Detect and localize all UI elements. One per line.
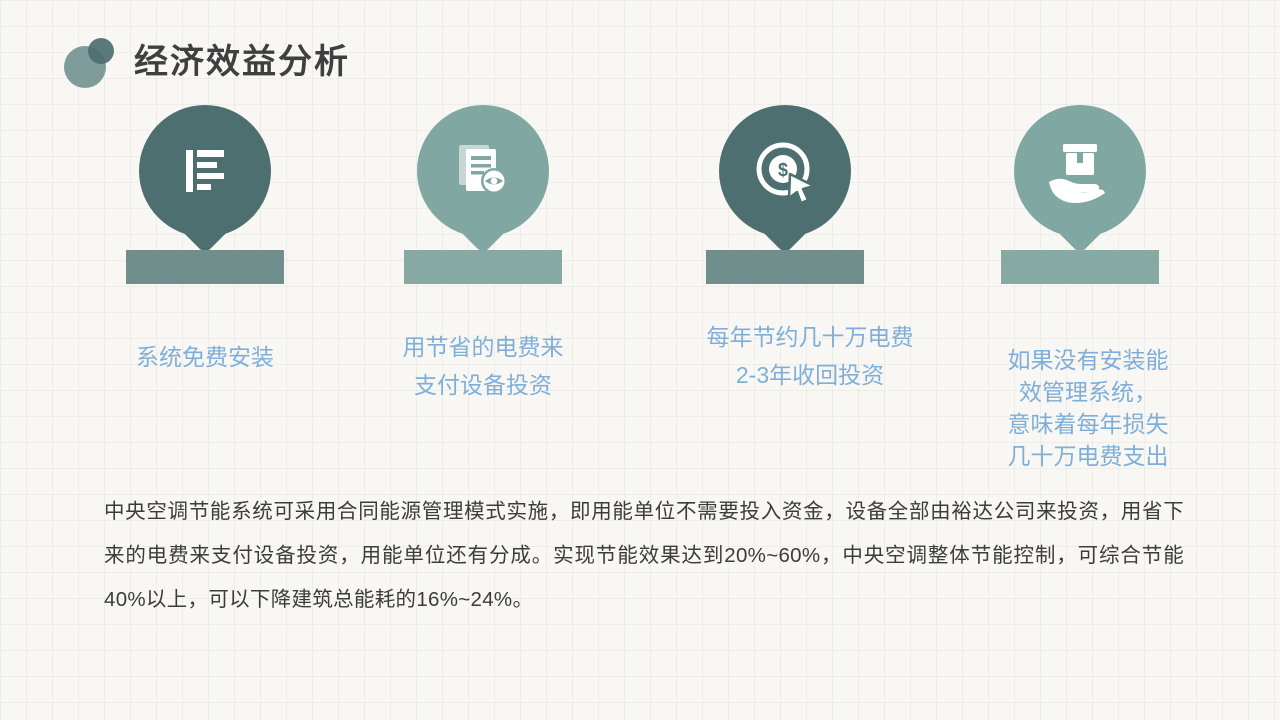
caption-4-line-3: 意味着每年损失 (938, 408, 1238, 440)
pin-item-4 (935, 105, 1225, 265)
caption-row: 系统免费安装 用节省的电费来 支付设备投资 每年节约几十万电费 2-3年收回投资… (0, 318, 1280, 478)
logo (64, 38, 120, 90)
pin-base-bar-4 (1001, 250, 1159, 284)
pin-marker-1 (139, 105, 271, 265)
pin-item-1 (60, 105, 350, 265)
document-lines-icon (139, 105, 271, 237)
caption-2-line-2: 支付设备投资 (333, 366, 633, 404)
pin-base-bar-2 (404, 250, 562, 284)
body-paragraph: 中央空调节能系统可采用合同能源管理模式实施，即用能单位不需要投入资金，设备全部由… (104, 490, 1184, 622)
pin-base-bar-3 (706, 250, 864, 284)
pin-base-bar-1 (126, 250, 284, 284)
caption-3-line-1: 每年节约几十万电费 (650, 318, 970, 356)
caption-3-line-2: 2-3年收回投资 (650, 356, 970, 394)
caption-4-line-2: 效管理系统， (938, 376, 1238, 408)
caption-4: 如果没有安装能 效管理系统， 意味着每年损失 几十万电费支出 (938, 344, 1238, 472)
caption-1: 系统免费安装 (55, 338, 355, 376)
svg-text:$: $ (778, 160, 788, 180)
caption-2: 用节省的电费来 支付设备投资 (333, 328, 633, 404)
pin-item-3: $ (640, 105, 930, 265)
caption-1-line-1: 系统免费安装 (55, 338, 355, 376)
dollar-coin-cursor-icon: $ (719, 105, 851, 237)
document-eye-review-icon (417, 105, 549, 237)
logo-circle-small-icon (88, 38, 114, 64)
pin-marker-2 (417, 105, 549, 265)
pin-row: $ (0, 105, 1280, 305)
page-title: 经济效益分析 (134, 45, 350, 83)
pin-marker-3: $ (719, 105, 851, 265)
pin-marker-4 (1014, 105, 1146, 265)
caption-3: 每年节约几十万电费 2-3年收回投资 (650, 318, 970, 394)
slide-header: 经济效益分析 (64, 38, 350, 90)
caption-4-line-4: 几十万电费支出 (938, 440, 1238, 472)
slide-canvas: 经济效益分析 (0, 0, 1280, 720)
caption-2-line-1: 用节省的电费来 (333, 328, 633, 366)
hand-holding-box-icon (1014, 105, 1146, 237)
pin-item-2 (338, 105, 628, 265)
caption-4-line-1: 如果没有安装能 (938, 344, 1238, 376)
